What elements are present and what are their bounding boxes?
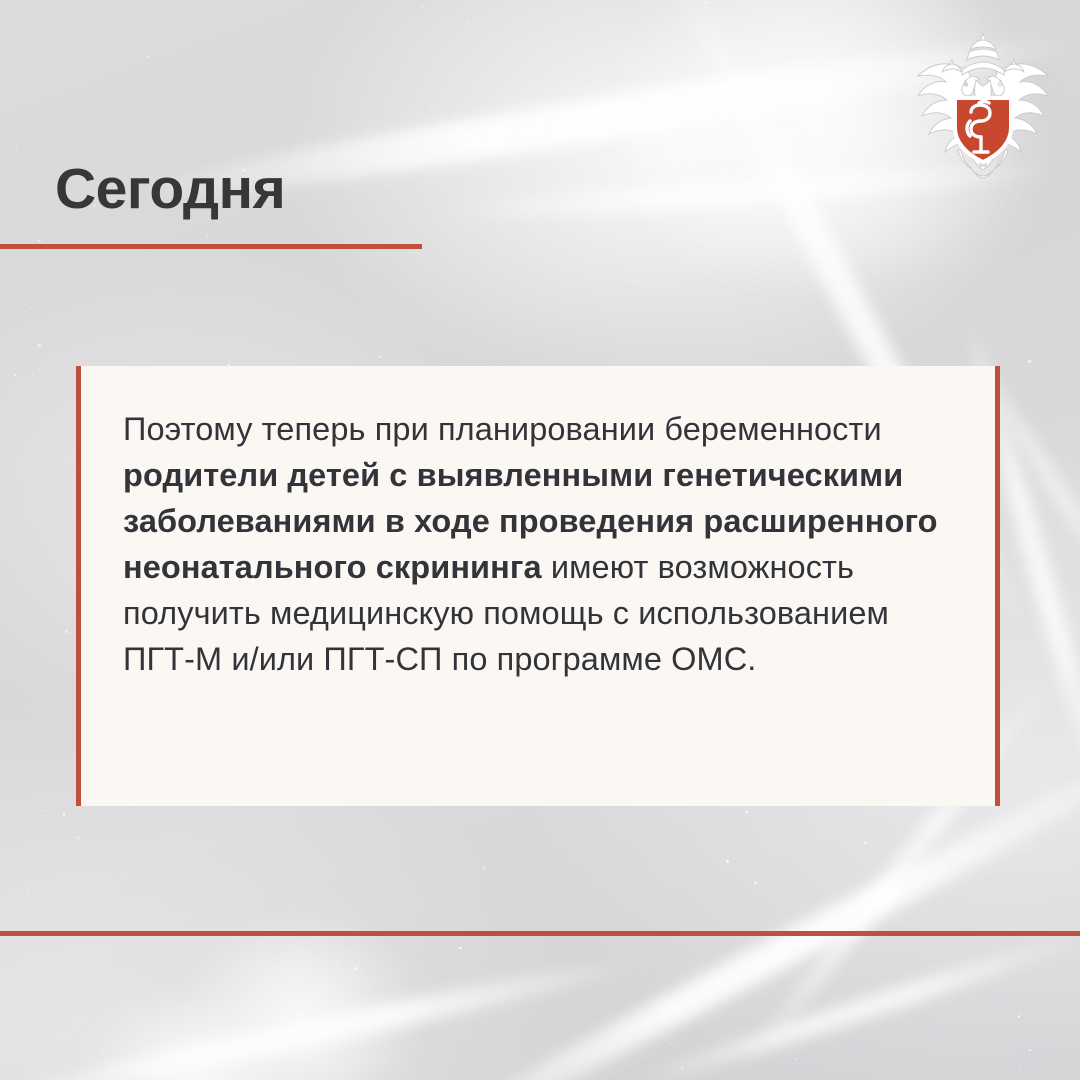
paragraph-run-0: Поэтому теперь при планировании беременн…	[123, 411, 882, 447]
content-card-body: Поэтому теперь при планировании беременн…	[81, 366, 995, 682]
bottom-divider-rule	[0, 931, 1080, 936]
page-title: Сегодня	[0, 160, 1080, 220]
content-card: Поэтому теперь при планировании беременн…	[76, 366, 1000, 806]
title-block: Сегодня	[0, 160, 1080, 249]
title-underline-rule	[0, 244, 422, 249]
body-paragraph: Поэтому теперь при планировании беременн…	[123, 406, 967, 682]
